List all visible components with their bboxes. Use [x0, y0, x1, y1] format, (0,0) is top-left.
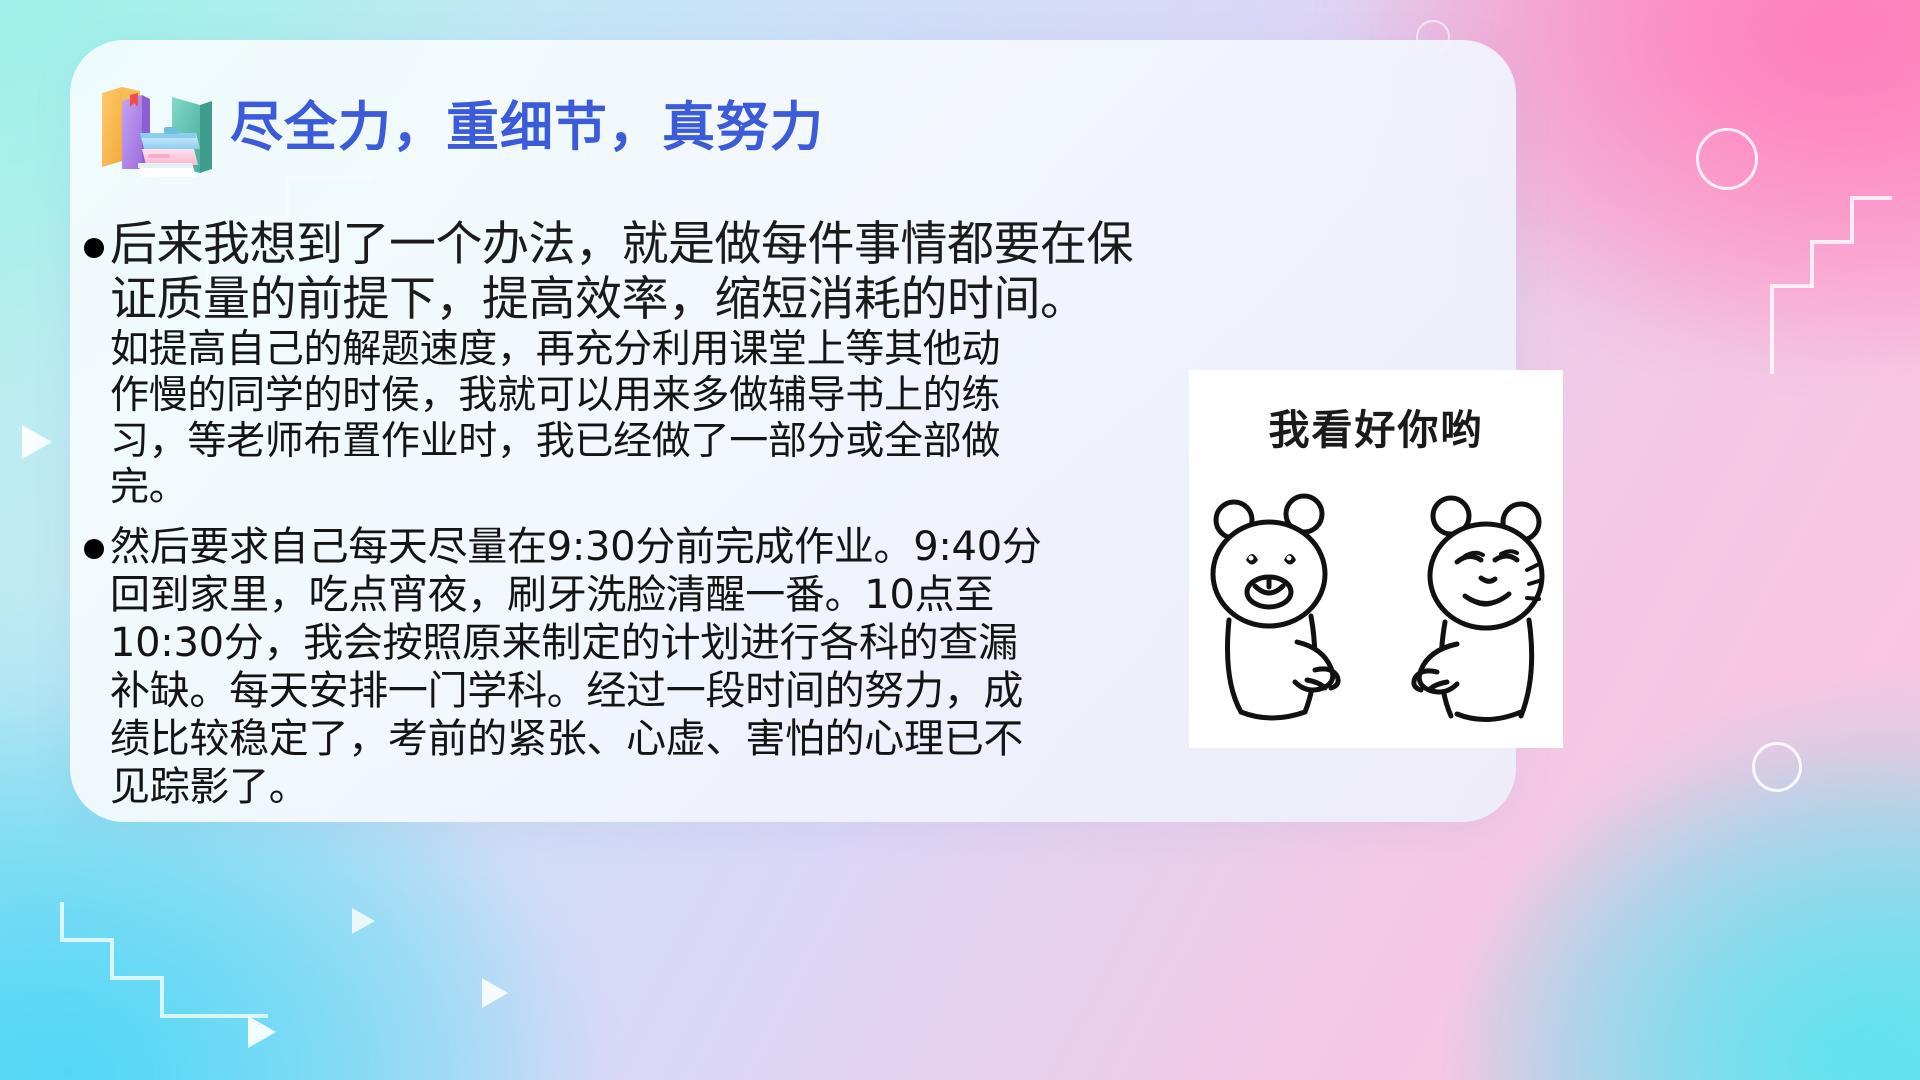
bullet-2-line-4: 补缺。每天安排一门学科。经过一段时间的努力，成: [110, 667, 1187, 715]
slide-header: 尽全力，重细节，真努力: [88, 72, 824, 182]
page-title: 尽全力，重细节，真努力: [230, 101, 824, 154]
bullet-item-1: 后来我想到了一个办法，就是做每件事情都要在保 证质量的前提下，提高效率，缩短消耗…: [82, 218, 1187, 511]
stacked-books-icon: [88, 75, 220, 179]
bullet-1-line-1: 后来我想到了一个办法，就是做每件事情都要在保: [110, 218, 1187, 273]
bullet-2-line-2: 回到家里，吃点宵夜，刷牙洗脸清醒一番。10点至: [110, 571, 1187, 619]
deco-circle-top-right: [1696, 128, 1758, 190]
bullet-2-line-5: 绩比较稳定了，考前的紧张、心虚、害怕的心理已不: [110, 715, 1187, 763]
bullet-dot-icon: [84, 238, 104, 258]
bullet-1-line-5: 习，等老师布置作业时，我已经做了一部分或全部做: [110, 419, 1187, 465]
bullet-item-2: 然后要求自己每天尽量在9:30分前完成作业。9:40分 回到家里，吃点宵夜，刷牙…: [82, 523, 1187, 811]
bullet-1-line-3: 如提高自己的解题速度，再充分利用课堂上等其他动: [110, 327, 1187, 373]
deco-stairs-right: [1764, 196, 1894, 376]
bullet-2-line-1: 然后要求自己每天尽量在9:30分前完成作业。9:40分: [110, 523, 1187, 571]
meme-bears-illustration: [1189, 474, 1563, 748]
deco-triangle-left: [22, 425, 52, 459]
deco-triangle-bottom-3: [352, 908, 375, 934]
encouragement-meme-image: 我看好你哟: [1189, 370, 1563, 748]
slide-canvas: 尽全力，重细节，真努力 后来我想到了一个办法，就是做每件事情都要在保 证质量的前…: [0, 0, 1920, 1080]
bullet-1-body: 后来我想到了一个办法，就是做每件事情都要在保 证质量的前提下，提高效率，缩短消耗…: [110, 218, 1187, 511]
content-card: 尽全力，重细节，真努力 后来我想到了一个办法，就是做每件事情都要在保 证质量的前…: [70, 40, 1516, 822]
bullet-2-line-3: 10:30分，我会按照原来制定的计划进行各科的查漏: [110, 619, 1187, 667]
bullet-1-line-2: 证质量的前提下，提高效率，缩短消耗的时间。: [110, 273, 1187, 328]
bullet-dot-icon: [84, 539, 104, 559]
bullet-2-body: 然后要求自己每天尽量在9:30分前完成作业。9:40分 回到家里，吃点宵夜，刷牙…: [110, 523, 1187, 811]
bullet-2-line-6: 见踪影了。: [110, 763, 1187, 811]
slide-body: 后来我想到了一个办法，就是做每件事情都要在保 证质量的前提下，提高效率，缩短消耗…: [82, 218, 1187, 811]
deco-triangle-bottom-1: [248, 1016, 276, 1048]
deco-triangle-bottom-2: [482, 978, 508, 1008]
bullet-1-line-4: 作慢的同学的时侯，我就可以用来多做辅导书上的练: [110, 373, 1187, 419]
bullet-1-line-6: 完。: [110, 465, 1187, 511]
meme-caption: 我看好你哟: [1189, 396, 1563, 456]
deco-stairs-bottom-left: [60, 900, 270, 1020]
deco-circle-bottom-right: [1752, 742, 1802, 792]
